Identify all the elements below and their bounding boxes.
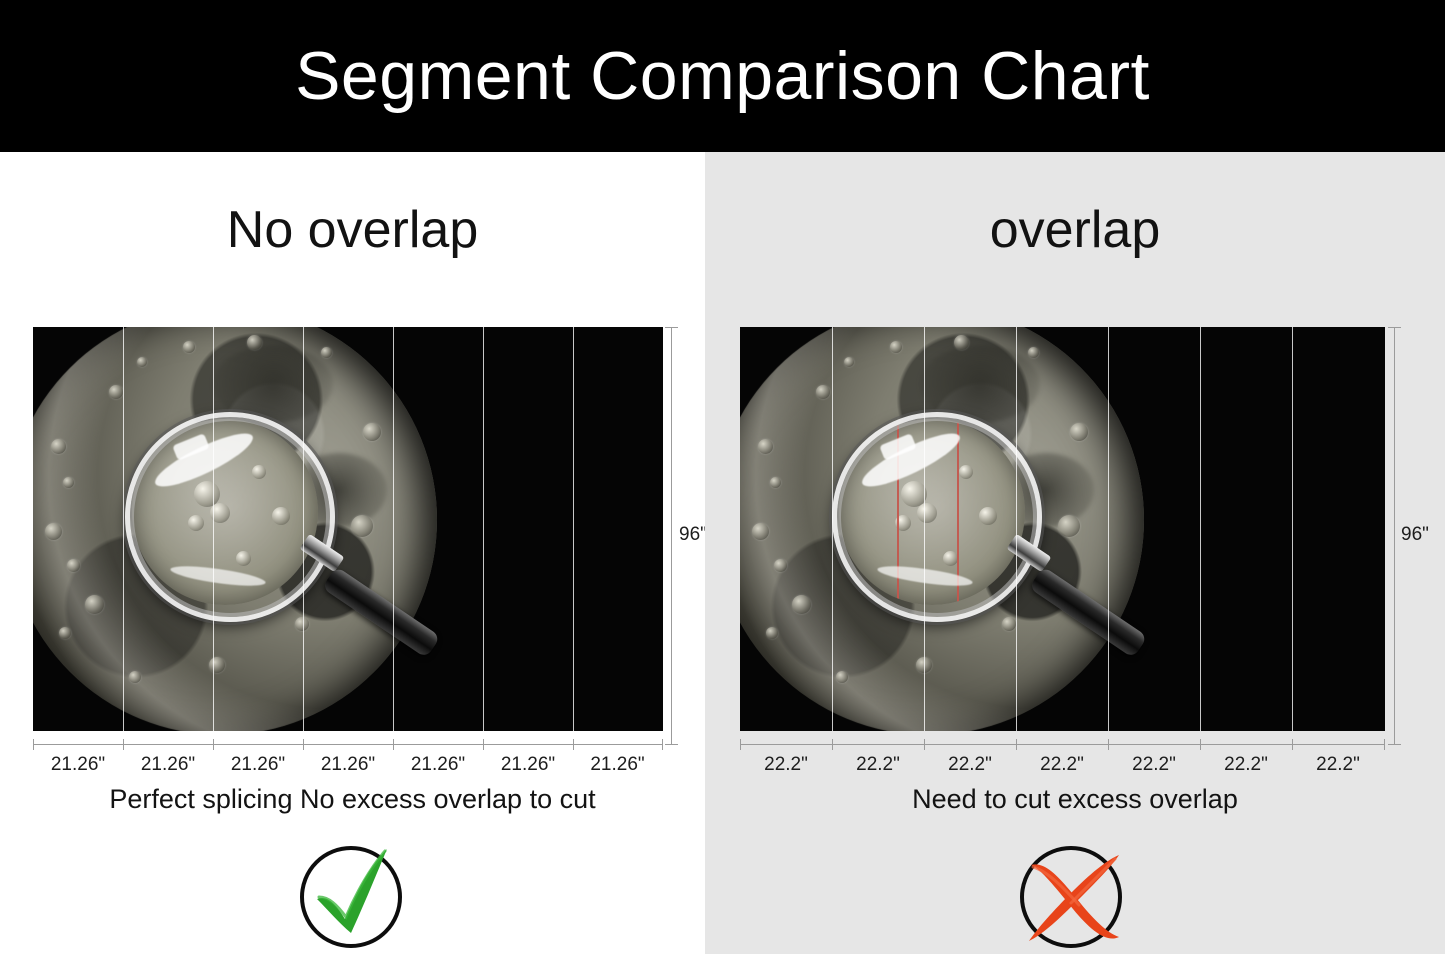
seam-line — [924, 327, 925, 731]
dimension-tick — [303, 739, 304, 750]
magnifier-glass — [832, 412, 1032, 612]
panel-overlap: overlap — [705, 152, 1445, 954]
crater — [836, 671, 848, 683]
crater — [85, 595, 104, 614]
crater — [954, 335, 969, 350]
panel-left-board — [33, 327, 663, 731]
width-dimension-line — [740, 744, 1385, 745]
panel-right-caption: Need to cut excess overlap — [705, 786, 1445, 813]
crater — [752, 523, 769, 540]
crater — [67, 559, 80, 572]
crater — [247, 335, 262, 350]
crater — [766, 627, 778, 639]
segment-width-label: 21.26" — [393, 755, 483, 774]
segment-width-label: 21.26" — [213, 755, 303, 774]
crater — [63, 477, 74, 488]
crater — [758, 439, 773, 454]
crater — [792, 595, 811, 614]
seam-line — [483, 327, 484, 731]
segment-width-label: 22.2" — [740, 755, 832, 774]
seam-line — [832, 327, 833, 731]
panel-right-board — [740, 327, 1385, 731]
segment-width-label: 21.26" — [573, 755, 662, 774]
magnifier-glass — [125, 412, 325, 612]
crater — [770, 477, 781, 488]
segment-width-label: 21.26" — [483, 755, 573, 774]
moon-illustration-left — [33, 327, 663, 731]
crater — [295, 617, 309, 631]
crater — [129, 671, 141, 683]
seam-line — [1108, 327, 1109, 731]
seam-line — [1016, 327, 1017, 731]
figure-no-overlap: 21.26" 21.26" 21.26" 21.26" 21.26" 21.26… — [33, 327, 663, 731]
crater — [183, 341, 195, 353]
title-banner: Segment Comparison Chart — [0, 0, 1445, 152]
crater — [109, 385, 123, 399]
panel-left-caption: Perfect splicing No excess overlap to cu… — [0, 786, 705, 813]
dimension-tick — [1200, 739, 1201, 750]
crater — [890, 341, 902, 353]
page-title: Segment Comparison Chart — [0, 0, 1445, 152]
dimension-tick — [1292, 739, 1293, 750]
panel-no-overlap: No overlap — [0, 152, 705, 954]
seam-line — [123, 327, 124, 731]
panel-right-heading: overlap — [705, 204, 1445, 256]
crater — [137, 357, 147, 367]
segment-width-label: 22.2" — [1108, 755, 1200, 774]
seam-line — [1292, 327, 1293, 731]
crater — [351, 515, 373, 537]
seam-line — [1200, 327, 1201, 731]
figure-overlap: 22.2" 22.2" 22.2" 22.2" 22.2" 22.2" 22.2… — [740, 327, 1385, 731]
crater — [844, 357, 854, 367]
dimension-tick — [573, 739, 574, 750]
dimension-tick — [1016, 739, 1017, 750]
height-dimension-line — [1394, 327, 1395, 744]
crater — [1070, 423, 1088, 441]
magnifier-ring — [832, 412, 1042, 622]
segment-width-label: 22.2" — [1292, 755, 1384, 774]
panel-height-label: 96" — [1401, 525, 1429, 544]
dimension-tick — [33, 739, 34, 750]
dimension-tick — [1108, 739, 1109, 750]
crater — [1058, 515, 1080, 537]
crater — [209, 657, 225, 673]
crater — [59, 627, 71, 639]
dimension-tick — [832, 739, 833, 750]
crater — [1028, 347, 1039, 358]
dimension-tick — [213, 739, 214, 750]
dimension-tick — [1384, 739, 1385, 750]
dimension-tick — [740, 739, 741, 750]
crater — [51, 439, 66, 454]
segment-width-label: 21.26" — [33, 755, 123, 774]
segment-width-label: 22.2" — [1016, 755, 1108, 774]
segment-width-label: 21.26" — [303, 755, 393, 774]
crater — [45, 523, 62, 540]
dimension-cap — [665, 744, 678, 745]
segment-width-label: 22.2" — [1200, 755, 1292, 774]
dimension-tick — [924, 739, 925, 750]
dimension-tick — [123, 739, 124, 750]
cross-mark-icon — [1015, 837, 1135, 954]
panel-height-label: 96" — [679, 525, 707, 544]
crater — [774, 559, 787, 572]
segment-width-label: 22.2" — [924, 755, 1016, 774]
dimension-cap — [1388, 744, 1401, 745]
moon-illustration-right — [740, 327, 1385, 731]
check-mark-icon — [293, 837, 413, 954]
height-dimension-line — [671, 327, 672, 744]
seam-line — [393, 327, 394, 731]
seam-line — [213, 327, 214, 731]
crater — [816, 385, 830, 399]
segment-width-label: 21.26" — [123, 755, 213, 774]
dimension-cap — [1388, 327, 1401, 328]
seam-line — [573, 327, 574, 731]
panel-left-heading: No overlap — [0, 204, 705, 256]
dimension-tick — [662, 739, 663, 750]
crater — [321, 347, 332, 358]
width-dimension-line — [33, 744, 663, 745]
seam-line — [303, 327, 304, 731]
dimension-tick — [483, 739, 484, 750]
dimension-cap — [665, 327, 678, 328]
crater — [1002, 617, 1016, 631]
segment-width-label: 22.2" — [832, 755, 924, 774]
crater — [363, 423, 381, 441]
dimension-tick — [393, 739, 394, 750]
segment-comparison-chart-page: Segment Comparison Chart No overlap — [0, 0, 1445, 954]
